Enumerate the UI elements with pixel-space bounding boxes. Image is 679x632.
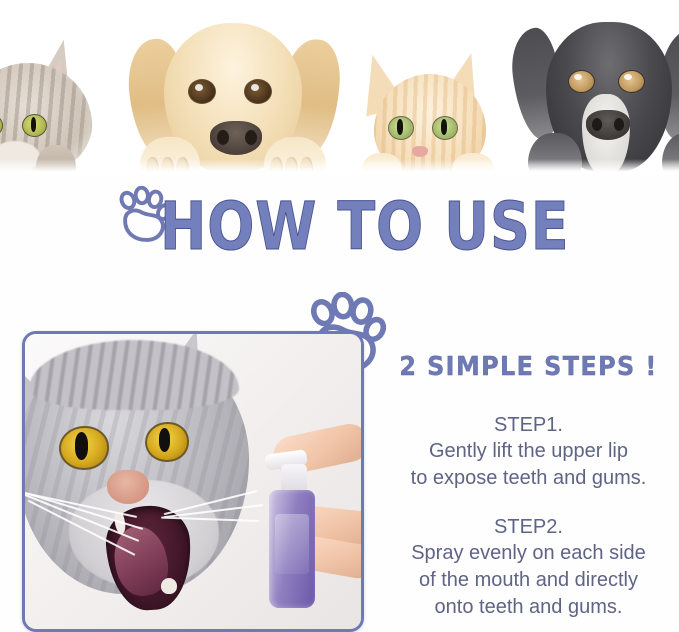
step-1-line-1: Gently lift the upper lip: [378, 438, 679, 465]
step-2-line-2: of the mouth and directly: [378, 567, 679, 594]
animal-banner: [0, 0, 679, 175]
banner-animal-black-dog: [508, 12, 679, 175]
step-1-line-2: to expose teeth and gums.: [378, 465, 679, 492]
dog-nostril-left: [592, 118, 602, 131]
dog-nostril-right: [245, 130, 257, 145]
dog-nostril-right: [614, 118, 624, 131]
steps-column: 2 SIMPLE STEPS ! STEP1. Gently lift the …: [378, 352, 679, 632]
step-2-title: STEP2.: [378, 514, 679, 540]
cat-nose: [412, 146, 428, 157]
page-title: HOW TO USE: [160, 193, 569, 261]
how-to-use-infographic: HOW TO USE: [0, 0, 679, 632]
step-1-title: STEP1.: [378, 412, 679, 438]
photo-hand: [259, 430, 364, 610]
step-2-line-1: Spray evenly on each side: [378, 540, 679, 567]
dog-eye-right: [244, 79, 272, 104]
dog-nostril-left: [217, 130, 229, 145]
banner-animal-orange-cat: [340, 40, 520, 175]
cat-pupil-right: [441, 119, 447, 135]
photo-spray-bottle: [265, 452, 315, 608]
steps-heading: 2 SIMPLE STEPS !: [390, 352, 667, 382]
dog-eye-left: [188, 79, 216, 104]
photo-cat-nose: [107, 470, 149, 504]
photo-cat-pupil-left: [75, 432, 88, 460]
banner-fade: [0, 159, 679, 175]
banner-animal-golden-retriever: [118, 17, 348, 175]
photo-cat-subject: [22, 340, 279, 632]
photo-cat-tooth: [161, 578, 177, 594]
step-block-1: STEP1. Gently lift the upper lip to expo…: [378, 412, 679, 492]
headline-area: HOW TO USE: [0, 193, 679, 265]
spray-label: [275, 514, 309, 574]
banner-animal-tabby-cat: [0, 35, 104, 175]
cat-pupil-left: [397, 119, 403, 135]
step-2-line-3: onto teeth and gums.: [378, 594, 679, 621]
photo-cat-pupil-right: [159, 428, 170, 452]
dog-eye-left: [568, 70, 595, 93]
instruction-photo: [22, 331, 364, 632]
cat-pupil-right: [31, 117, 36, 132]
step-block-2: STEP2. Spray evenly on each side of the …: [378, 514, 679, 621]
dog-eye-right: [618, 70, 645, 93]
